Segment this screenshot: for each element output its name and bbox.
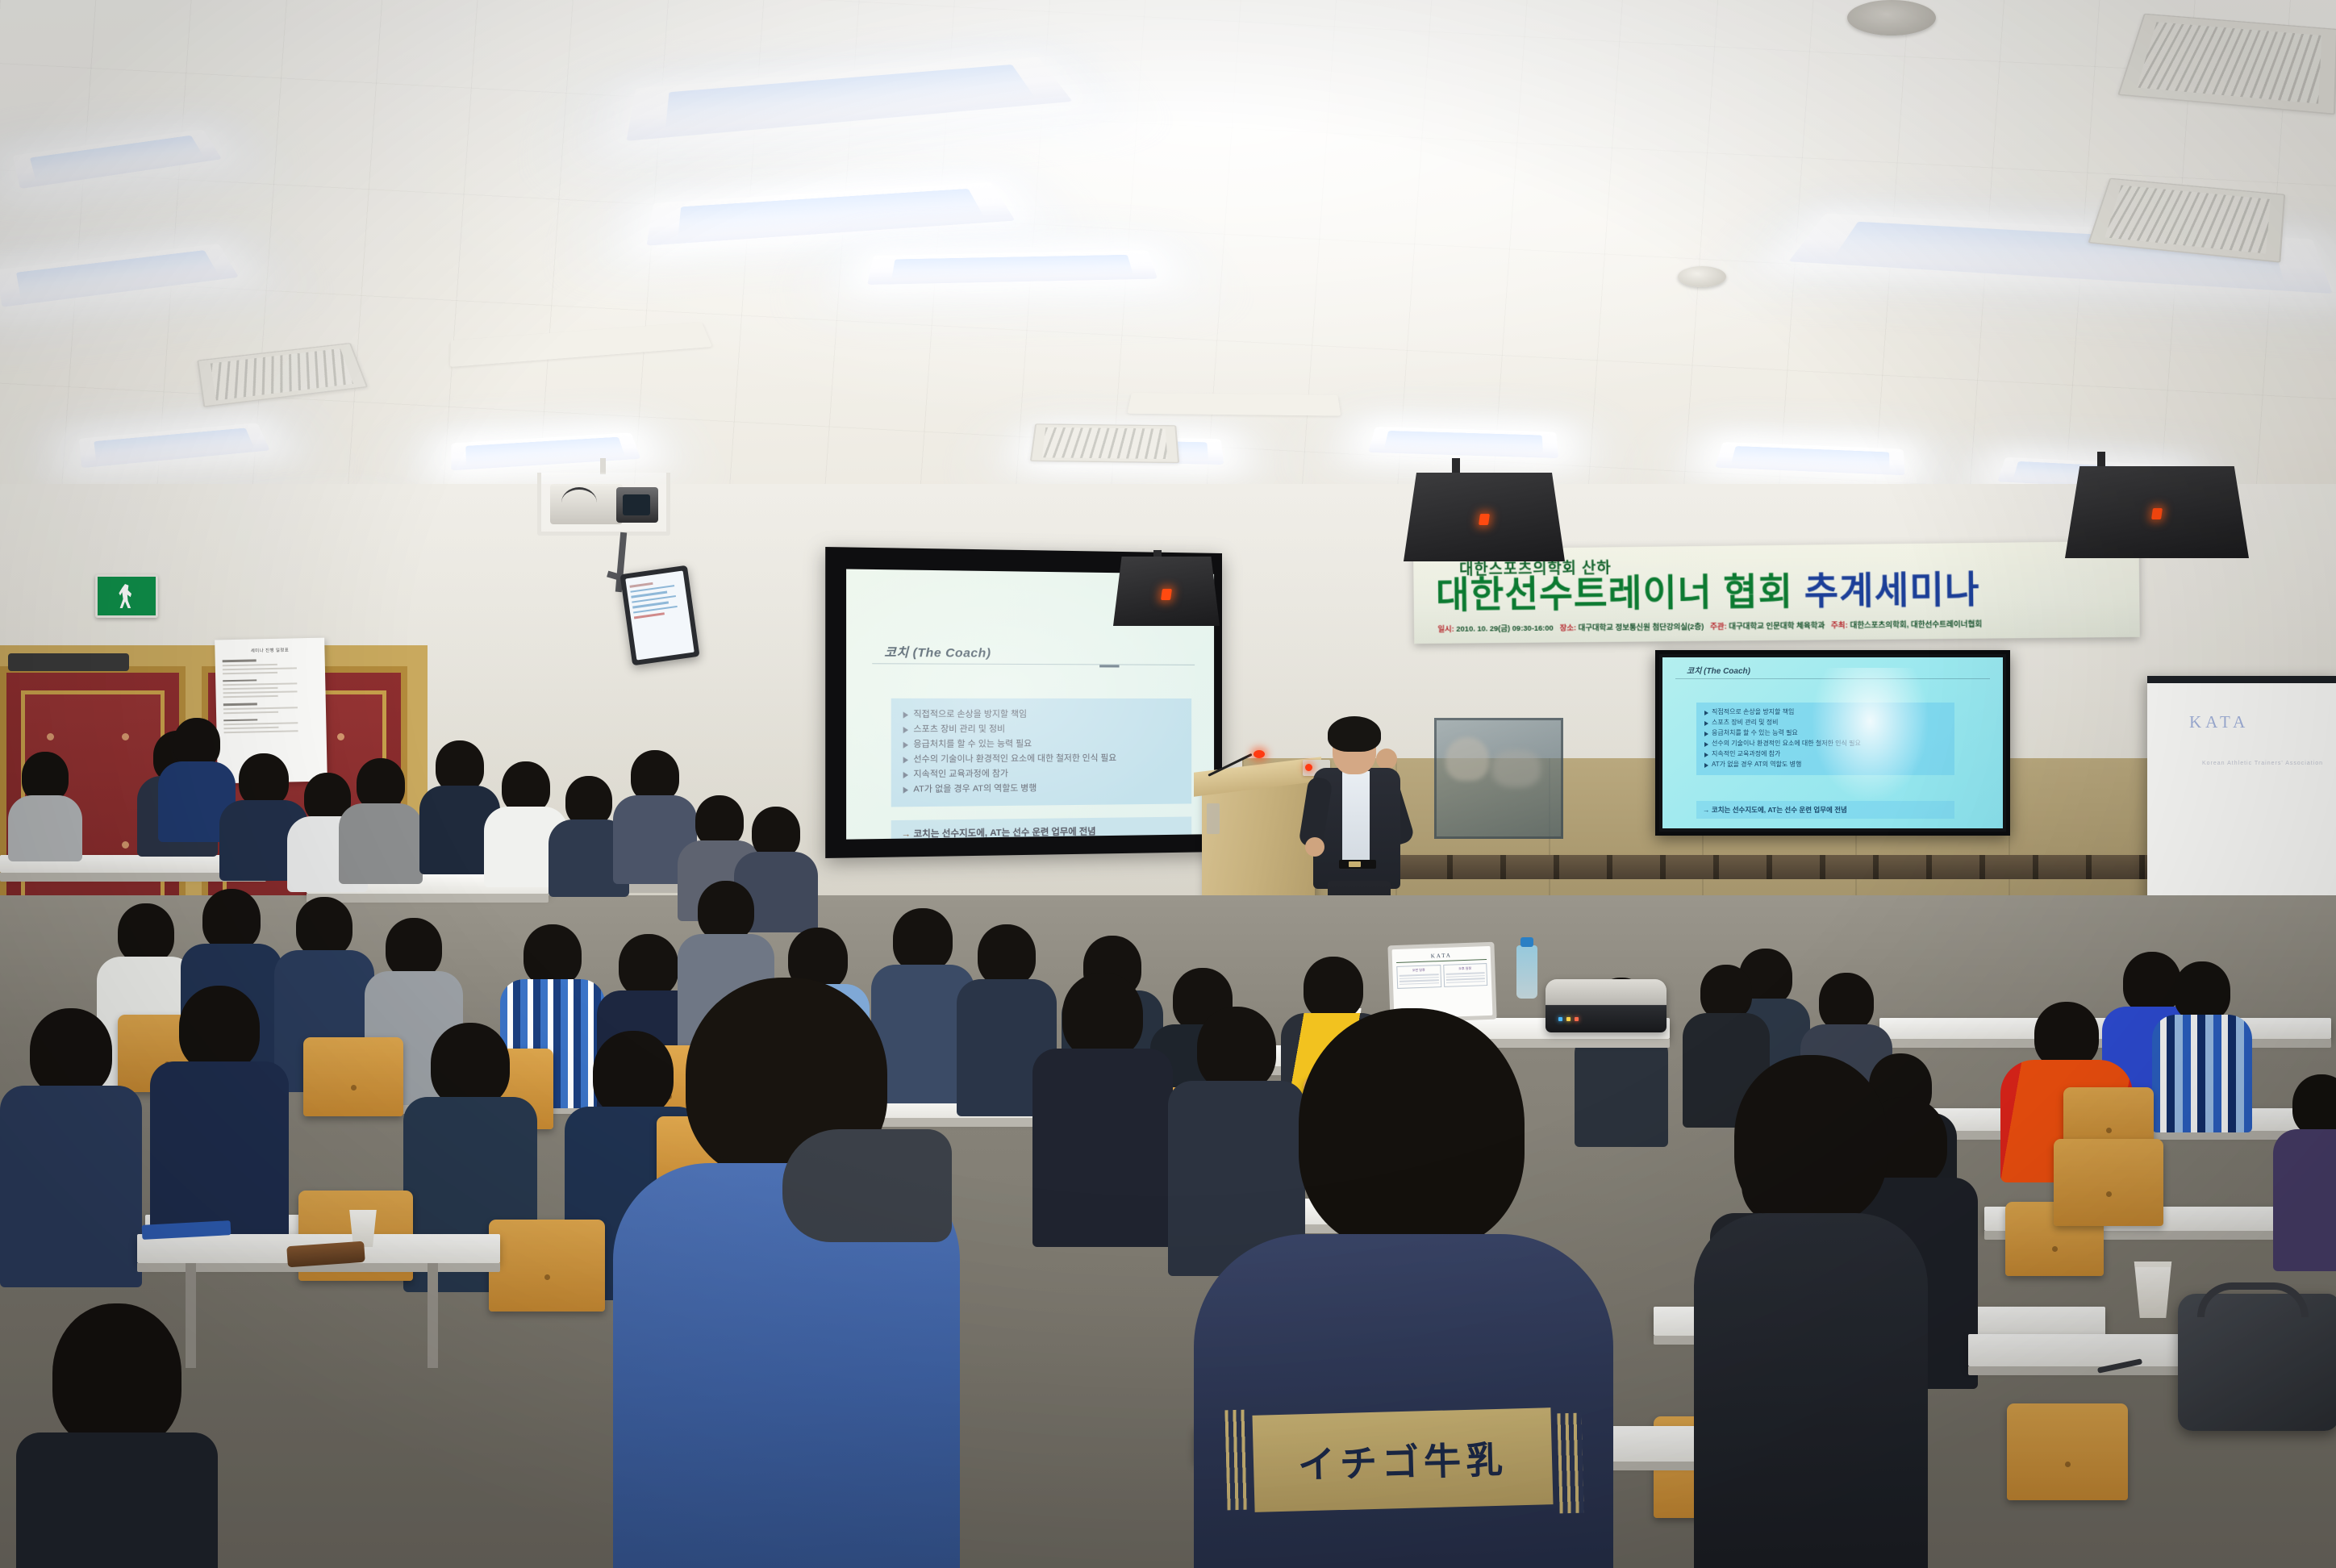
kata-logo: KATA xyxy=(2189,712,2249,732)
water-bottle[interactable] xyxy=(1516,945,1537,999)
foreground-audience-member xyxy=(1694,1055,1928,1568)
slide-bullet: 응급처치를 할 수 있는 능력 필요 xyxy=(901,736,1182,752)
poster-title: 세미나 진행 일정표 xyxy=(222,646,317,654)
audience-member xyxy=(0,1008,142,1282)
slide-bullet: AT가 없을 경우 AT의 역할도 병행 xyxy=(901,780,1182,798)
banner-details: 일시: 2010. 10. 29(금) 09:30-16:00 장소: 대구대학… xyxy=(1437,616,2131,634)
projector-lens-icon xyxy=(616,487,658,523)
large-wall-monitor[interactable]: 코치 (The Coach) 직접적으로 손상을 방지할 책임 스포츠 장비 관… xyxy=(1655,650,2010,836)
monitor-slide-title: 코치 (The Coach) xyxy=(1687,664,1750,676)
foreground-audience-member-hoodie xyxy=(613,978,960,1568)
banner-title-green: 대한선수트레이너 협회 xyxy=(1436,570,1793,615)
head xyxy=(1299,1008,1525,1250)
ceiling-projector xyxy=(537,473,670,536)
speaker-led-icon xyxy=(1479,514,1490,525)
lecture-hall-photo: 세미나 진행 일정표 스포츠 의학 코치 (The Coach) 직접적으로 손… xyxy=(0,0,2336,1568)
slide-bullet: 스포츠 장비 관리 및 정비 xyxy=(901,721,1182,736)
air-conditioning-vent xyxy=(1030,423,1179,463)
speaker-led-icon xyxy=(1161,589,1172,600)
mic-led-icon xyxy=(1254,750,1265,758)
stage-glass-window xyxy=(1434,718,1563,839)
chair[interactable] xyxy=(2054,1139,2163,1226)
slide-bullet: 선수의 기술이나 환경적인 요소에 대한 철저한 인식 필요 xyxy=(901,750,1182,766)
slide-bullet: 직접적으로 손상을 방지할 책임 xyxy=(901,707,1182,722)
monitor-conclusion: 코치는 선수지도에, AT는 선수 운련 업무에 전념 xyxy=(1696,801,1954,819)
chair[interactable] xyxy=(2007,1403,2128,1500)
audience-member xyxy=(1032,973,1173,1244)
slide-conclusion: 코치는 선수지도에, AT는 선수 운련 업무에 전념 xyxy=(891,816,1191,839)
hoodie-collar xyxy=(782,1129,952,1242)
audience-member xyxy=(150,986,289,1260)
left-ceiling-speaker xyxy=(1113,557,1220,626)
audience-member xyxy=(339,758,423,879)
foreground-audience-member-sweatshirt: イチゴ牛乳 xyxy=(1194,1008,1613,1568)
door-closer xyxy=(8,653,129,671)
monitor-slide: 코치 (The Coach) 직접적으로 손상을 방지할 책임 스포츠 장비 관… xyxy=(1662,657,2003,828)
chair[interactable] xyxy=(489,1220,605,1312)
banner-title-blue: 추계세미나 xyxy=(1804,568,1979,611)
running-man-glyph xyxy=(119,584,135,608)
sweatshirt-graphic-band: イチゴ牛乳 xyxy=(1252,1407,1553,1512)
ceiling-lamp xyxy=(867,250,1158,285)
laptop-doc-title: KATA xyxy=(1396,951,1487,963)
slide-bullet-list: 직접적으로 손상을 방지할 책임 스포츠 장비 관리 및 정비 응급처치를 할 … xyxy=(891,699,1191,807)
right-ceiling-speaker xyxy=(2065,466,2249,558)
audience-member xyxy=(8,752,82,857)
speaker-led-icon xyxy=(2151,508,2163,519)
lamp-housing xyxy=(1127,393,1341,416)
backpack[interactable] xyxy=(2178,1294,2336,1431)
smoke-detector-icon xyxy=(1678,266,1726,287)
kata-subtitle: Korean Athletic Trainers' Association xyxy=(2202,761,2323,766)
center-ceiling-speaker xyxy=(1404,473,1565,561)
smoke-detector-icon xyxy=(1847,0,1936,35)
wall-mounted-monitor[interactable] xyxy=(619,565,699,666)
sweatshirt-text: イチゴ牛乳 xyxy=(1252,1407,1553,1512)
emergency-exit-icon xyxy=(95,574,158,618)
banner-title: 대한선수트레이너 협회 추계세미나 xyxy=(1436,569,2136,613)
podium-microphone xyxy=(1208,750,1266,786)
audience-member xyxy=(2273,1074,2336,1268)
audience-member-plaid xyxy=(2152,961,2252,1128)
chair[interactable] xyxy=(303,1037,403,1116)
kata-projection-screen: KATA Korean Athletic Trainers' Associati… xyxy=(2147,676,2336,925)
sweatshirt-body xyxy=(1194,1234,1613,1568)
foreground-audience-member xyxy=(16,1303,218,1568)
slide-title: 코치 (The Coach) xyxy=(884,643,991,661)
